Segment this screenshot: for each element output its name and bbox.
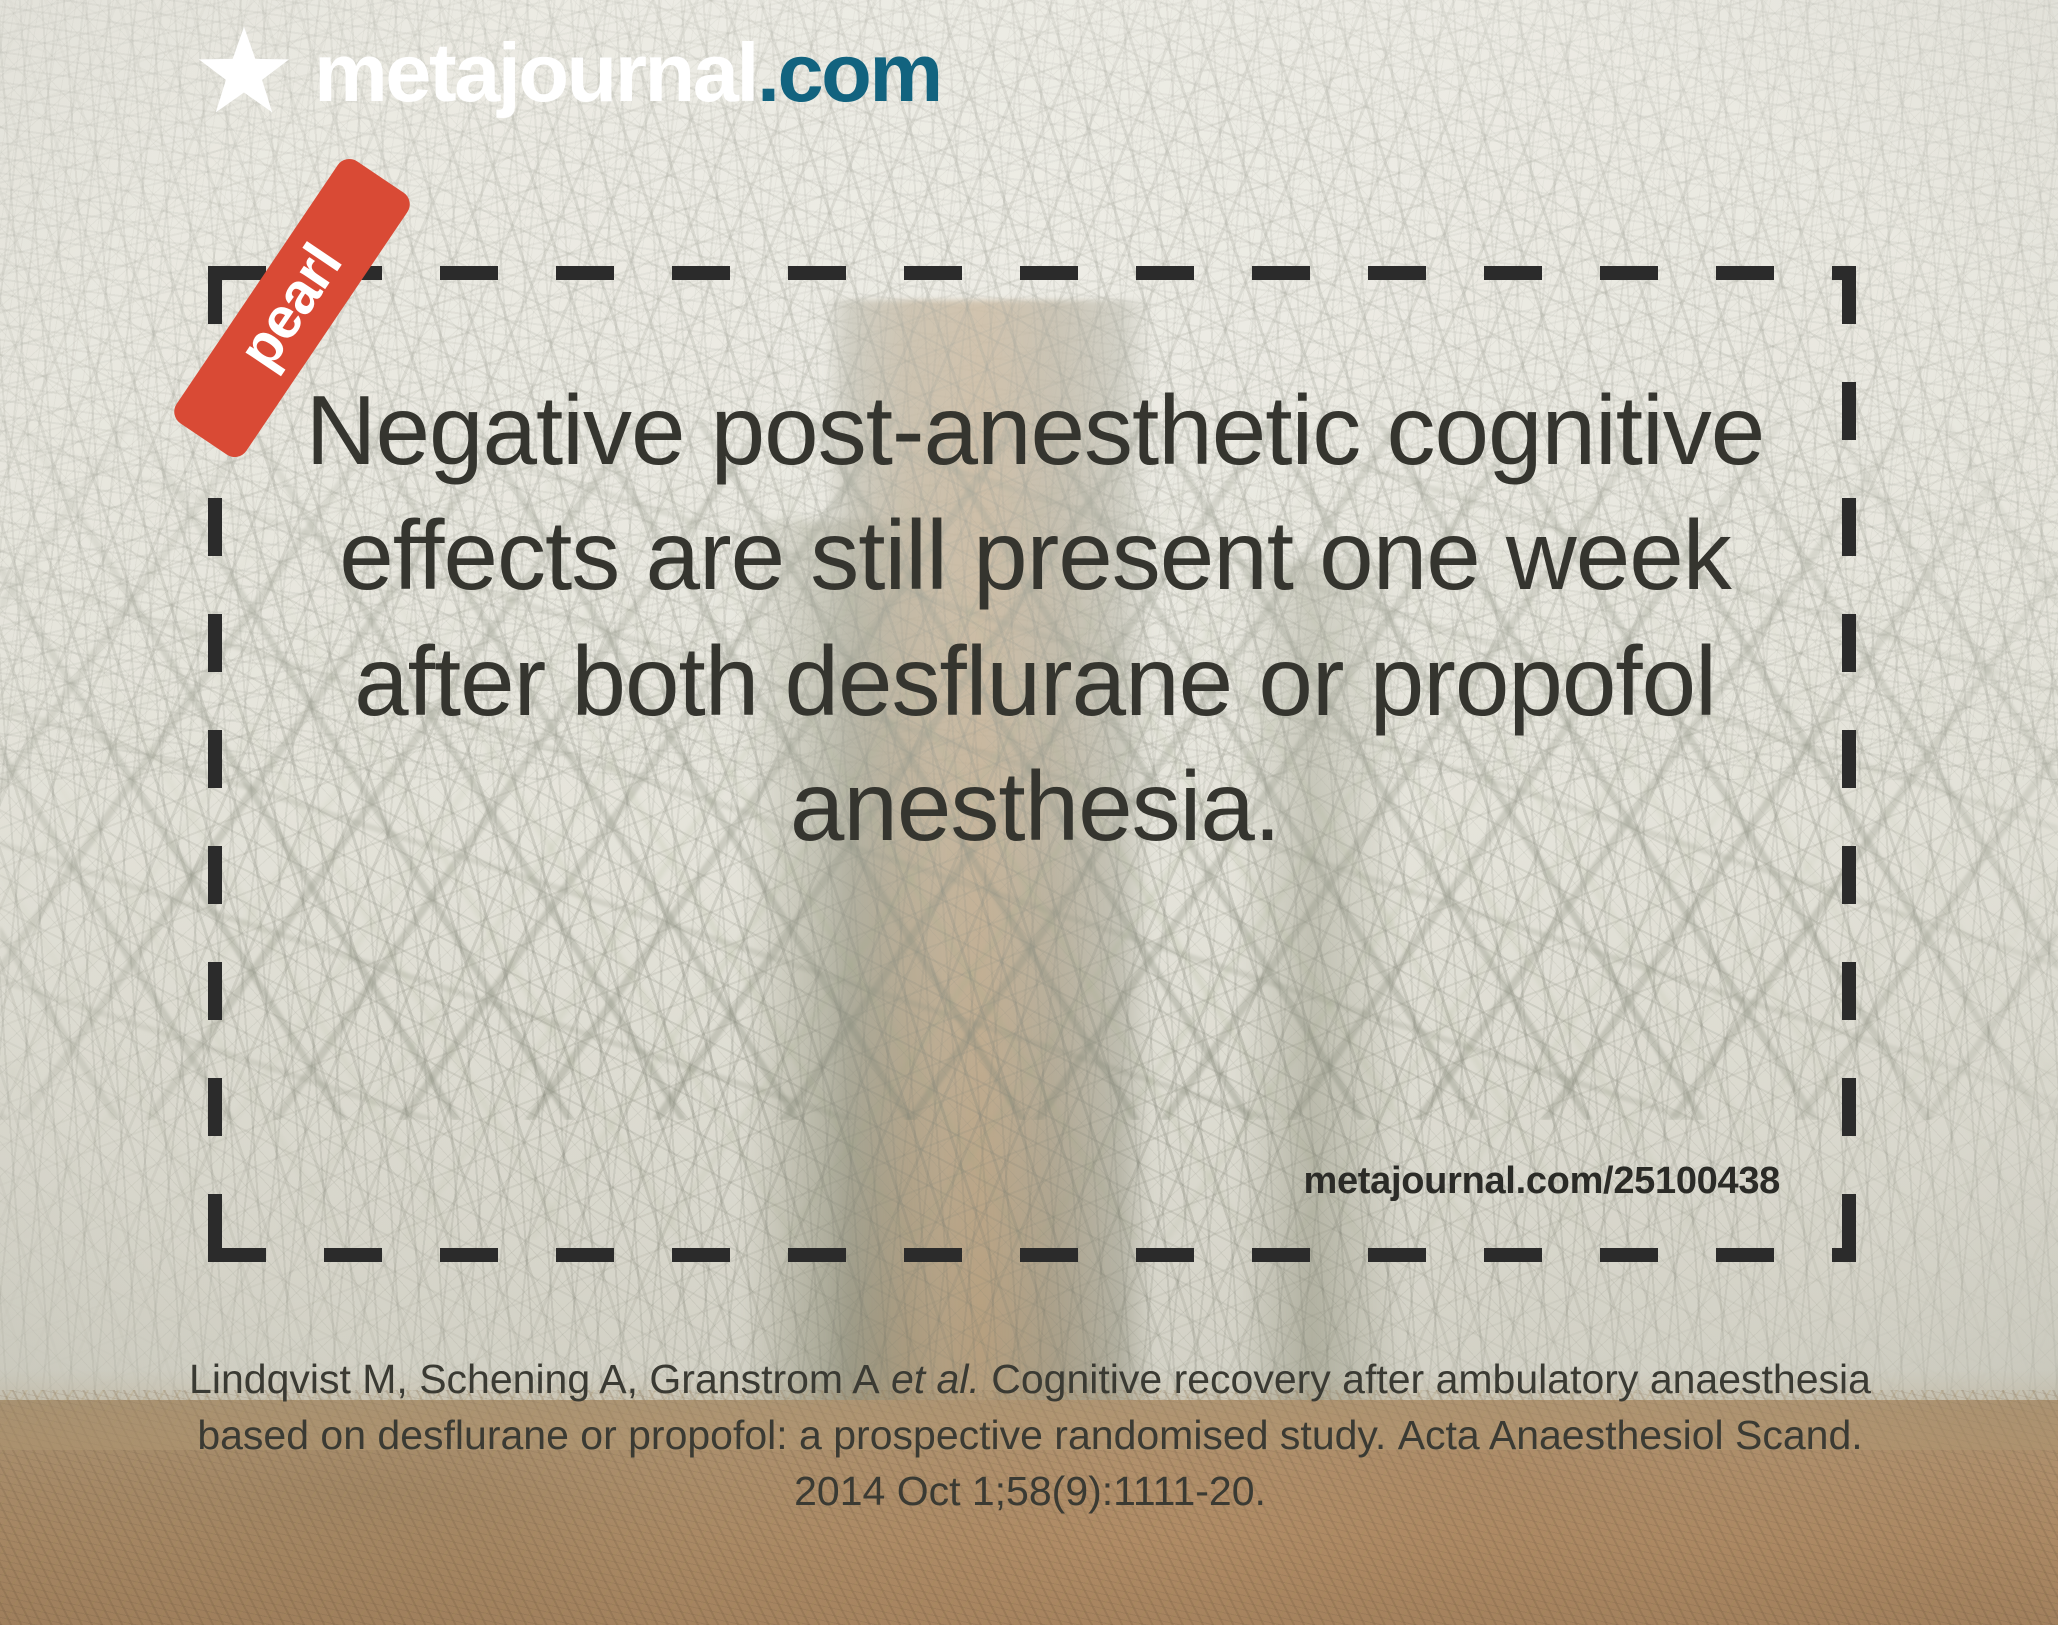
frame-edge-top [208,266,1856,280]
metajournal-pearl-card: metajournal.com pearl Negative post-anes… [0,0,2058,1625]
frame-edge-bottom [208,1248,1856,1262]
citation-authors: Lindqvist M, Schening A, Granstrom A [189,1356,880,1402]
logo-wordmark: metajournal.com [314,31,941,114]
metajournal-logo[interactable]: metajournal.com [196,24,941,120]
pearl-permalink[interactable]: metajournal.com/25100438 [0,1160,1780,1203]
pearl-title: Negative post-anesthetic cognitive effec… [280,368,1790,870]
logo-name: metajournal [314,26,757,119]
star-icon [196,24,292,120]
frame-edge-right [1842,266,1856,1262]
source-citation: Lindqvist M, Schening A, Granstrom A et … [150,1352,1910,1519]
frame-edge-left [208,266,222,1262]
logo-tld: .com [757,26,941,119]
citation-et-al: et al. [891,1356,980,1402]
